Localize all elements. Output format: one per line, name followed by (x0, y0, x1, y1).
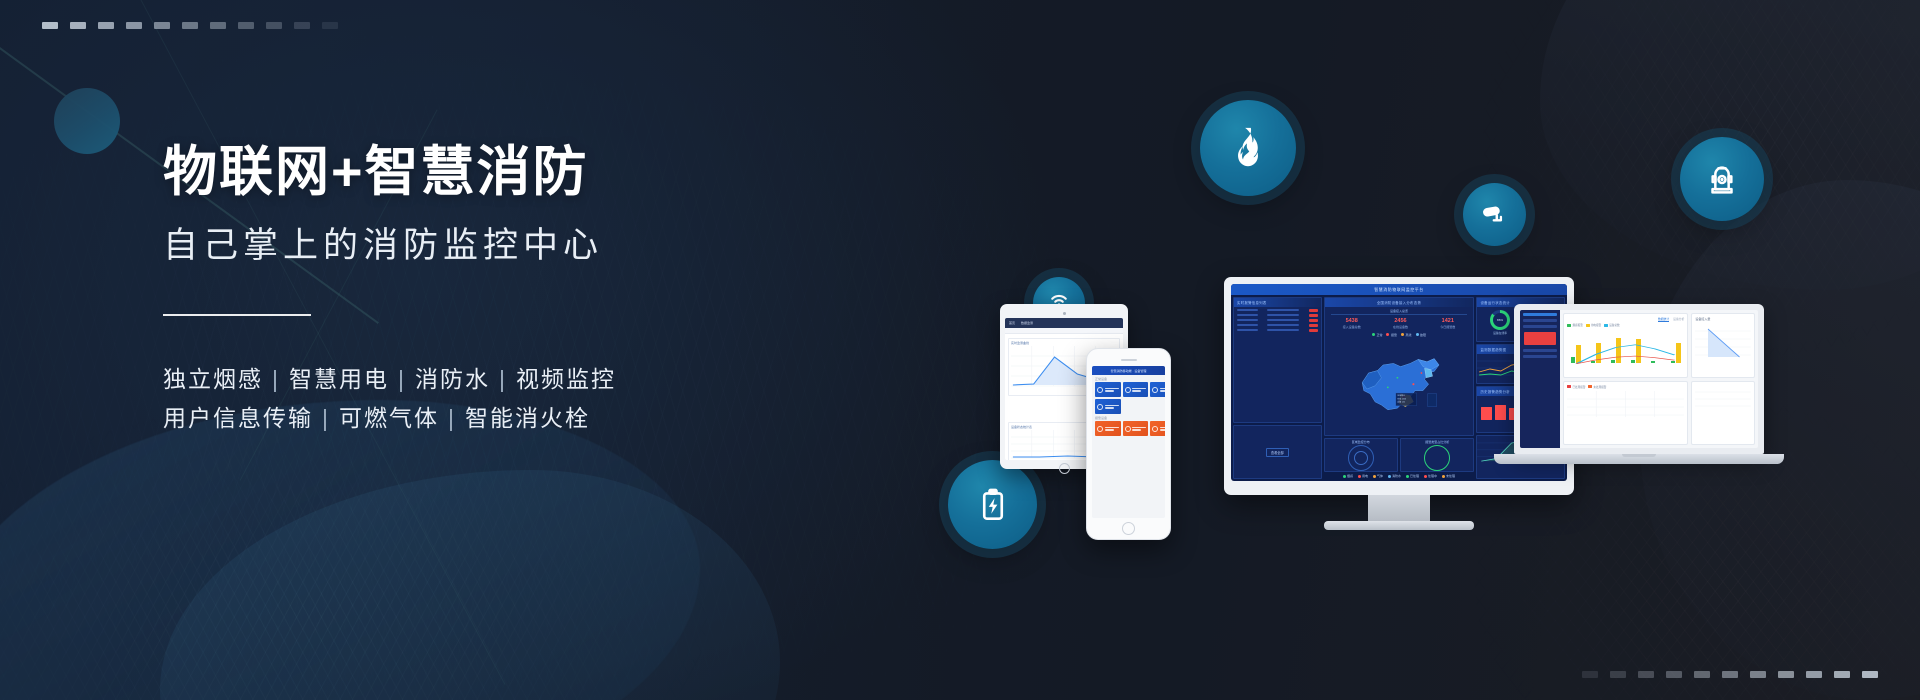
stat-item: 1421今日报警数 (1440, 318, 1455, 329)
map-panel-title: 全国消防设备接入分布态势 (1325, 298, 1474, 307)
phone-tile[interactable] (1095, 399, 1121, 414)
bar (1616, 338, 1621, 363)
legend-item: 气体 (1373, 474, 1383, 478)
phone-mockup: 智慧消防移动端 · 设备管理 正常设备 报警设备 (1086, 348, 1171, 540)
decor-dash (1834, 671, 1850, 678)
alarm-rows (1234, 307, 1321, 334)
bar (1591, 361, 1595, 363)
hero-banner: 物联网+智慧消防 自己掌上的消防监控中心 独立烟感|智慧用电|消防水|视频监控 … (0, 0, 1920, 700)
feature-item[interactable]: 用户信息传输 (163, 405, 313, 431)
alarm-cell (1309, 309, 1318, 312)
page-subtitle: 自己掌上的消防监控中心 (163, 224, 863, 268)
decor-dash (126, 22, 142, 29)
tile-label (1132, 427, 1146, 431)
alarm-cell (1237, 324, 1258, 326)
phone-tile[interactable] (1095, 382, 1121, 397)
legend-item: 设备总数 (1604, 323, 1619, 327)
stat-value: 5438 (1343, 318, 1361, 324)
alarm-cell (1237, 314, 1258, 316)
gauge-ring: 86% (1490, 310, 1510, 330)
feature-item[interactable]: 智慧用电 (289, 366, 389, 392)
bar (1676, 343, 1681, 363)
gauge-value: 86% (1493, 313, 1507, 327)
decor-dash (1582, 671, 1598, 678)
tablet-subbar (1005, 328, 1123, 334)
laptop-small-chart (1695, 385, 1751, 411)
tablet-navbar: 首页 数据监测 (1005, 318, 1123, 328)
decor-dash (1750, 671, 1766, 678)
phone-section-normal-label: 正常设备 (1092, 375, 1165, 382)
map-panel-subtitle: 设备接入总览 (1331, 307, 1468, 315)
laptop-area-title: 设备接入量 (1695, 317, 1751, 321)
radar-panel-right: 报警类型占比分析 (1400, 438, 1474, 472)
battery-bolt-icon (972, 484, 1014, 526)
stat-item: 5438接入设备总数 (1343, 318, 1361, 329)
flame-icon (1225, 125, 1271, 171)
laptop-chart-legend: 烟感报警用电报警设备总数 (1567, 323, 1684, 327)
laptop-tab-active[interactable]: 数据统计 (1658, 317, 1669, 322)
decor-dash (42, 22, 58, 29)
flame-icon-badge[interactable] (1200, 100, 1296, 196)
laptop-main: 数据统计 设备分析 烟感报警用电报警设备总数 设备接入量 (1560, 310, 1758, 448)
dashboard-left-column: 实时报警信息列表 查看全部 (1233, 297, 1322, 479)
tile-icon (1125, 387, 1131, 393)
tile-label (1105, 405, 1119, 409)
legend-item: 用电报警 (1586, 323, 1601, 327)
decor-dash (98, 22, 114, 29)
tile-icon (1152, 426, 1158, 432)
decor-dash (182, 22, 198, 29)
alarm-row (1237, 324, 1318, 327)
legend-item: 故障 (1416, 333, 1427, 337)
feature-separator: | (389, 366, 415, 392)
hydrant-icon-badge[interactable] (1680, 137, 1764, 221)
feature-separator: | (313, 405, 339, 431)
phone-section-alarm-label: 报警设备 (1092, 414, 1165, 421)
dashboard-header: 智慧消防物联网监控平台 (1231, 284, 1567, 295)
decor-dash (210, 22, 226, 29)
legend-item: 处理中 (1424, 474, 1437, 478)
decor-dash (294, 22, 310, 29)
tile-icon (1097, 387, 1103, 393)
bar (1481, 407, 1492, 421)
tile-label (1160, 388, 1166, 392)
bar (1596, 343, 1601, 363)
laptop-area-chart (1695, 323, 1751, 363)
gauge-label: 设备在线率 (1490, 331, 1510, 335)
phone-header-title: 智慧消防移动端 · 设备管理 (1111, 369, 1147, 373)
decor-dash (238, 22, 254, 29)
bar-group (1668, 329, 1684, 363)
phone-tile[interactable] (1150, 421, 1165, 436)
page-title: 物联网+智慧消防 (163, 140, 863, 206)
bar-group (1567, 329, 1583, 363)
feature-separator: | (439, 405, 465, 431)
dashboard-center-column: 全国消防设备接入分布态势 设备接入总览 5438接入设备总数2456在线设备数1… (1324, 297, 1475, 479)
tile-icon (1125, 426, 1131, 432)
laptop-sidebar-alert (1524, 332, 1556, 345)
tile-label (1105, 427, 1119, 431)
tablet-home-button[interactable] (1059, 463, 1070, 474)
alarm-cell (1309, 329, 1318, 332)
alarm-row (1237, 329, 1318, 332)
alarm-cell (1237, 309, 1258, 311)
decor-dash (1638, 671, 1654, 678)
phone-tile-grid-normal (1092, 382, 1165, 414)
tile-label (1105, 388, 1119, 392)
alarm-cell (1267, 314, 1299, 316)
phone-tile[interactable] (1095, 421, 1121, 436)
stat-value: 2456 (1393, 318, 1408, 324)
alarm-row (1237, 309, 1318, 312)
legend-item: 消防水 (1388, 474, 1401, 478)
decor-dashes-top-left (42, 22, 338, 29)
laptop-lid: 数据统计 设备分析 烟感报警用电报警设备总数 设备接入量 (1514, 304, 1764, 454)
phone-tile[interactable] (1123, 421, 1149, 436)
radar-left-title: 区域监控分布 (1352, 440, 1370, 444)
bar-group (1628, 329, 1644, 363)
laptop-legend-item: 已处理报警 (1572, 385, 1585, 389)
hero-copy: 物联网+智慧消防 自己掌上的消防监控中心 独立烟感|智慧用电|消防水|视频监控 … (163, 140, 863, 439)
security-camera-icon (1479, 199, 1511, 231)
decor-dash (1806, 671, 1822, 678)
bottom-legend: 烟感用电气体消防水已处理处理中未处理 (1324, 474, 1475, 479)
bar (1495, 405, 1506, 420)
decor-dash (70, 22, 86, 29)
phone-header: 智慧消防移动端 · 设备管理 (1092, 366, 1165, 375)
decor-dash (1610, 671, 1626, 678)
alarm-cell (1267, 309, 1299, 311)
tile-icon (1097, 426, 1103, 432)
decor-dash (154, 22, 170, 29)
phone-screen: 智慧消防移动端 · 设备管理 正常设备 报警设备 (1092, 366, 1165, 518)
legend-item: 未处理 (1442, 474, 1455, 478)
decor-dash (1694, 671, 1710, 678)
alarm-row (1237, 319, 1318, 322)
decor-dash (1778, 671, 1794, 678)
tile-label (1132, 388, 1146, 392)
feature-row: 用户信息传输|可燃气体|智能消火栓 (163, 399, 863, 439)
stat-row: 5438接入设备总数2456在线设备数1421今日报警数 (1325, 315, 1474, 331)
laptop-table-grid (1567, 391, 1684, 417)
stat-label: 在线设备数 (1393, 325, 1408, 329)
laptop-bottom-legend: 已处理报警 未处理报警 (1567, 385, 1684, 389)
tile-icon (1152, 387, 1158, 393)
tablet-nav-item[interactable]: 数据监测 (1021, 321, 1033, 325)
phone-speaker (1121, 359, 1137, 361)
laptop-notch (1622, 454, 1656, 457)
laptop-mockup: 数据统计 设备分析 烟感报警用电报警设备总数 设备接入量 (1514, 304, 1764, 464)
laptop-legend-item: 未处理报警 (1593, 385, 1606, 389)
battery-icon-badge[interactable] (948, 460, 1037, 549)
feature-row: 独立烟感|智慧用电|消防水|视频监控 (163, 360, 863, 400)
fire-hydrant-icon (1702, 159, 1742, 199)
bar (1671, 361, 1675, 363)
dashboard-title: 智慧消防物联网监控平台 (1374, 287, 1424, 293)
feature-separator: | (263, 366, 289, 392)
tablet-chart-title: 实时监测曲线 (1011, 341, 1117, 345)
gauge-item: 86%设备在线率 (1490, 310, 1510, 335)
laptop-table-card: 已处理报警 未处理报警 (1563, 381, 1688, 446)
decor-dashes-bottom-right (1582, 671, 1878, 678)
feature-item[interactable]: 智能消火栓 (465, 405, 590, 431)
legend-item: 烟感报警 (1567, 323, 1582, 327)
alarm-cell (1237, 329, 1258, 331)
legend-item: 烟感 (1343, 474, 1353, 478)
alarm-cell (1267, 324, 1299, 326)
laptop-tab[interactable]: 设备分析 (1673, 317, 1684, 322)
bar (1651, 361, 1655, 363)
bar (1636, 339, 1641, 363)
laptop-sidebar (1520, 310, 1560, 448)
map-panel: 全国消防设备接入分布态势 设备接入总览 5438接入设备总数2456在线设备数1… (1324, 297, 1475, 436)
bg-decor-circle (54, 88, 120, 154)
radar-panel-left: 区域监控分布 (1324, 438, 1398, 472)
laptop-area-card: 设备接入量 (1691, 313, 1755, 378)
alarm-cell (1237, 319, 1258, 321)
feature-item[interactable]: 可燃气体 (339, 405, 439, 431)
decor-dash (266, 22, 282, 29)
feature-list: 独立烟感|智慧用电|消防水|视频监控 用户信息传输|可燃气体|智能消火栓 (163, 360, 863, 439)
laptop-base (1494, 454, 1784, 464)
alarm-action-panel: 查看全部 (1233, 425, 1322, 479)
stat-label: 今日报警数 (1440, 325, 1455, 329)
title-divider (163, 314, 311, 316)
bar-group (1608, 329, 1624, 363)
monitor-stand (1368, 495, 1430, 521)
laptop-bar-card: 数据统计 设备分析 烟感报警用电报警设备总数 (1563, 313, 1688, 378)
feature-item[interactable]: 视频监控 (516, 366, 616, 392)
device-mockup-group: 首页 数据监测 实时监测曲线 (1120, 280, 1760, 580)
legend-item: 离线 (1401, 333, 1412, 337)
feature-item[interactable]: 独立烟感 (163, 366, 263, 392)
feature-separator: | (490, 366, 516, 392)
phone-tile-grid-alarm (1092, 421, 1165, 436)
phone-home-button[interactable] (1122, 522, 1135, 535)
map-legend: 正常报警离线故障 (1325, 331, 1474, 339)
alarm-cell (1309, 319, 1318, 322)
bar (1576, 345, 1581, 363)
laptop-screen: 数据统计 设备分析 烟感报警用电报警设备总数 设备接入量 (1520, 310, 1758, 448)
alarm-list-panel: 实时报警信息列表 (1233, 297, 1322, 423)
alarm-row (1237, 314, 1318, 317)
radar-graphic (1348, 445, 1374, 471)
china-map: 区域统计在线 2456报警 142 (1325, 339, 1474, 435)
phone-tile[interactable] (1150, 382, 1165, 397)
feature-item[interactable]: 消防水 (415, 366, 490, 392)
alarm-cell (1309, 314, 1318, 317)
laptop-small-card (1691, 381, 1755, 446)
legend-item: 已处理 (1406, 474, 1419, 478)
radar-green-graphic (1424, 445, 1450, 471)
alarm-cell (1267, 319, 1299, 321)
bar-group (1648, 329, 1664, 363)
decor-dash (1722, 671, 1738, 678)
monitor-base (1324, 521, 1474, 530)
bar (1631, 360, 1635, 363)
bar-group (1588, 329, 1604, 363)
legend-item: 报警 (1386, 333, 1397, 337)
alarm-cell (1309, 324, 1318, 327)
decor-dash (322, 22, 338, 29)
tablet-nav-item[interactable]: 首页 (1009, 321, 1015, 325)
bar (1611, 360, 1615, 363)
decor-dash (1862, 671, 1878, 678)
laptop-bar-chart (1567, 329, 1684, 363)
tablet-camera-dot (1063, 312, 1066, 315)
view-all-button[interactable]: 查看全部 (1266, 448, 1289, 457)
phone-tile[interactable] (1123, 382, 1149, 397)
stat-item: 2456在线设备数 (1393, 318, 1408, 329)
alarm-list-title: 实时报警信息列表 (1234, 298, 1321, 307)
radar-right-title: 报警类型占比分析 (1425, 440, 1449, 444)
decor-dash (1666, 671, 1682, 678)
stat-label: 接入设备总数 (1343, 325, 1361, 329)
alarm-cell (1267, 329, 1299, 331)
china-map-svg: 区域统计在线 2456报警 142 (1351, 349, 1447, 425)
tile-icon (1097, 404, 1103, 410)
camera-icon-badge[interactable] (1463, 183, 1526, 246)
tile-label (1160, 427, 1166, 431)
legend-item: 用电 (1358, 474, 1368, 478)
bar (1571, 357, 1575, 363)
legend-item: 正常 (1372, 333, 1383, 337)
stat-value: 1421 (1440, 318, 1455, 324)
